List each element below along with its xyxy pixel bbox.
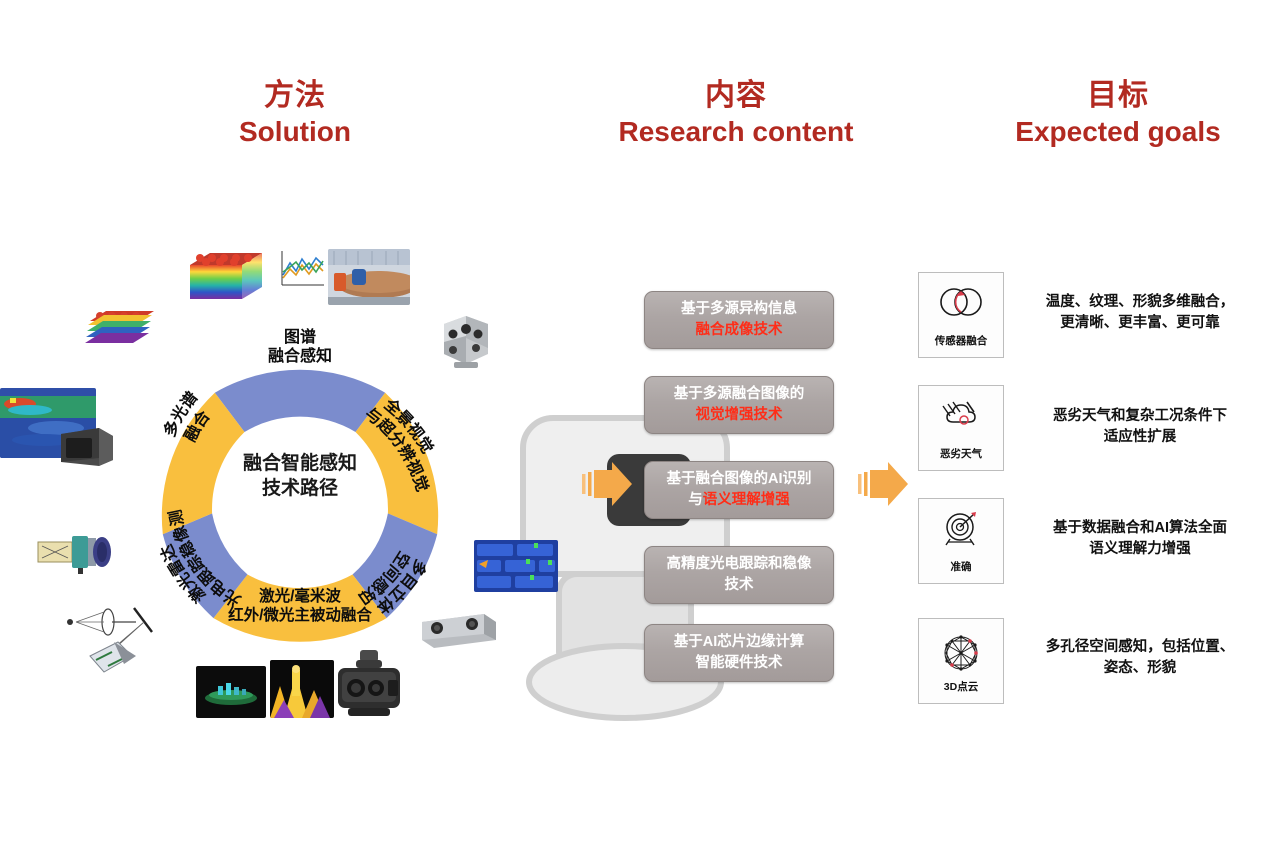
column-header-expected-goals-cn: 目标 bbox=[1015, 78, 1220, 115]
venn-circles-icon bbox=[937, 285, 985, 324]
goal-text-point-cloud-line1: 多孔径空间感知，包括位置、 bbox=[1032, 637, 1248, 658]
research-box-tracking-stabilization[interactable]: 高精度光电跟踪和稳像 技术 bbox=[644, 546, 834, 604]
wheel-label-laser-fusion: 激光/毫米波 红外/微光主被动融合 bbox=[228, 588, 372, 625]
column-header-research-content: 内容 Research content bbox=[619, 78, 854, 149]
wheel-label-spectral-fusion-line2: 融合感知 bbox=[268, 347, 332, 366]
wheel-segment-spectral-fusion-perception bbox=[215, 370, 385, 432]
research-box-visual-enhancement[interactable]: 基于多源融合图像的 视觉增强技术 bbox=[644, 376, 834, 434]
optical-module-diagram-thumb bbox=[36, 528, 116, 576]
diagram-canvas: 方法 Solution 内容 Research content 目标 Expec… bbox=[0, 0, 1268, 866]
goal-text-accuracy-line1: 基于数据融合和AI算法全面 bbox=[1032, 518, 1248, 539]
research-box-visual-enhancement-highlight: 视觉增强技术 bbox=[696, 407, 783, 423]
goal-card-sensor-fusion-caption: 传感器融合 bbox=[919, 333, 1003, 348]
goal-text-bad-weather: 恶劣天气和复杂工况条件下 适应性扩展 bbox=[1032, 406, 1248, 448]
rain-cloud-icon bbox=[937, 398, 985, 437]
column-header-expected-goals-en: Expected goals bbox=[1015, 115, 1220, 149]
column-header-research-content-cn: 内容 bbox=[619, 78, 854, 115]
solution-wheel: 全景视觉 与超分辨视觉 多目立体 空间感知 激光雷达 光电跟踪稳像测量 bbox=[120, 300, 480, 660]
wheel-label-spectral-fusion-line1: 图谱 bbox=[268, 328, 332, 347]
goal-card-sensor-fusion[interactable]: 传感器融合 bbox=[918, 272, 1004, 358]
goal-card-point-cloud[interactable]: 3D点云 bbox=[918, 618, 1004, 704]
arrow-content-to-goals bbox=[854, 458, 910, 510]
research-box-fusion-imaging-highlight: 融合成像技术 bbox=[696, 322, 783, 338]
point-cloud-sphere-icon bbox=[938, 631, 984, 680]
spectrum-plot-thumb bbox=[270, 245, 328, 297]
wheel-label-spectral-fusion: 图谱 融合感知 bbox=[268, 328, 332, 366]
wheel-label-laser-fusion-line2: 红外/微光主被动融合 bbox=[228, 607, 372, 626]
research-box-edge-computing-line2: 智能硬件技术 bbox=[696, 655, 783, 671]
research-box-ai-semantic[interactable]: 基于融合图像的AI识别 与语义理解增强 bbox=[644, 461, 834, 519]
goal-card-point-cloud-caption: 3D点云 bbox=[919, 679, 1003, 694]
wheel-label-laser-fusion-line1: 激光/毫米波 bbox=[228, 588, 372, 607]
wheel-center-line2: 技术路径 bbox=[195, 477, 405, 502]
goal-text-point-cloud-line2: 姿态、形貌 bbox=[1032, 658, 1248, 679]
research-box-edge-computing-line1: 基于AI芯片边缘计算 bbox=[674, 634, 805, 650]
goal-card-bad-weather-caption: 恶劣天气 bbox=[919, 446, 1003, 461]
research-box-visual-enhancement-line1: 基于多源融合图像的 bbox=[674, 386, 805, 402]
goal-text-bad-weather-line2: 适应性扩展 bbox=[1032, 427, 1248, 448]
research-box-fusion-imaging-line1: 基于多源异构信息 bbox=[681, 301, 797, 317]
goal-card-accuracy-caption: 准确 bbox=[919, 559, 1003, 574]
goal-text-bad-weather-line1: 恶劣天气和复杂工况条件下 bbox=[1032, 406, 1248, 427]
research-box-tracking-line2: 技术 bbox=[725, 577, 754, 593]
column-header-solution: 方法 Solution bbox=[239, 78, 351, 149]
column-header-expected-goals: 目标 Expected goals bbox=[1015, 78, 1220, 149]
research-box-ai-semantic-highlight: 语义理解增强 bbox=[703, 492, 790, 508]
goal-text-accuracy: 基于数据融合和AI算法全面 语义理解力增强 bbox=[1032, 518, 1248, 560]
column-header-solution-cn: 方法 bbox=[239, 78, 351, 115]
thermal-scene-thumb bbox=[270, 660, 334, 718]
goal-text-point-cloud: 多孔径空间感知，包括位置、 姿态、形貌 bbox=[1032, 637, 1248, 679]
depth-pointcloud-thumb bbox=[474, 540, 558, 592]
research-box-ai-semantic-line1: 基于融合图像的AI识别 bbox=[667, 471, 812, 487]
industrial-pipeline-photo-thumb bbox=[328, 249, 410, 305]
goal-text-sensor-fusion: 温度、纹理、形貌多维融合， 更清晰、更丰富、更可靠 bbox=[1032, 292, 1248, 334]
wheel-center-line1: 融合智能感知 bbox=[195, 452, 405, 477]
column-header-research-content-en: Research content bbox=[619, 115, 854, 149]
goal-card-bad-weather[interactable]: 恶劣天气 bbox=[918, 385, 1004, 471]
column-header-solution-en: Solution bbox=[239, 115, 351, 149]
lidar-scan-scene-thumb bbox=[196, 666, 266, 718]
goal-text-sensor-fusion-line1: 温度、纹理、形貌多维融合， bbox=[1032, 292, 1248, 313]
goal-text-sensor-fusion-line2: 更清晰、更丰富、更可靠 bbox=[1032, 313, 1248, 334]
target-dart-icon bbox=[937, 511, 985, 552]
wheel-center-label: 融合智能感知 技术路径 bbox=[195, 452, 405, 501]
goal-card-accuracy[interactable]: 准确 bbox=[918, 498, 1004, 584]
research-box-edge-computing[interactable]: 基于AI芯片边缘计算 智能硬件技术 bbox=[644, 624, 834, 682]
hyperspectral-cube-thumb bbox=[186, 243, 266, 305]
research-box-ai-semantic-line2: 与 bbox=[688, 492, 703, 508]
goal-text-accuracy-line2: 语义理解力增强 bbox=[1032, 539, 1248, 560]
research-box-tracking-line1: 高精度光电跟踪和稳像 bbox=[667, 556, 812, 572]
arrow-solution-to-content bbox=[578, 458, 634, 510]
thermal-camera-thumb bbox=[55, 424, 117, 468]
research-box-fusion-imaging[interactable]: 基于多源异构信息 融合成像技术 bbox=[644, 291, 834, 349]
